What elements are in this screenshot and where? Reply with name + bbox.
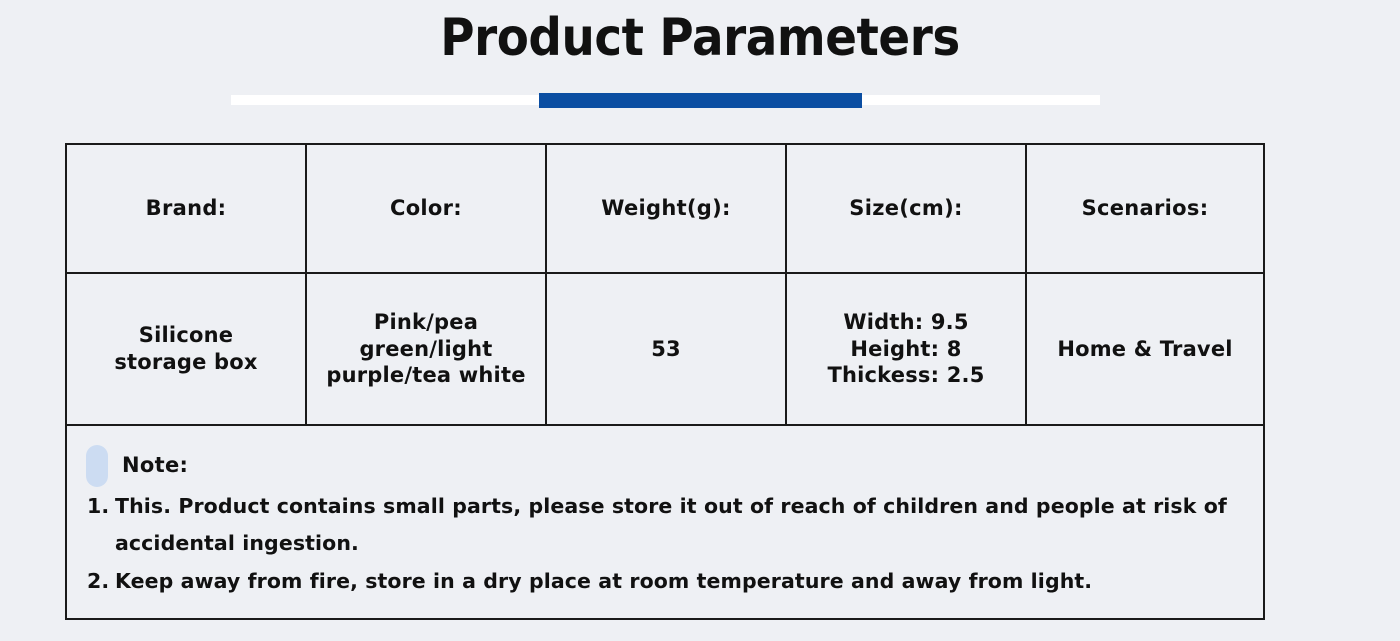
product-parameters-page: Product Parameters Brand: Color: Weight(…: [0, 0, 1400, 641]
list-item: 2. Keep away from fire, store in a dry p…: [81, 563, 1245, 600]
brand-value: Siliconestorage box: [114, 322, 257, 376]
parameters-table: Brand: Color: Weight(g): Size(cm): Scena…: [65, 143, 1265, 620]
table-cell-size: Width: 9.5Height: 8Thickess: 2.5: [787, 274, 1027, 424]
color-value: Pink/peagreen/lightpurple/tea white: [326, 309, 525, 390]
table-header-brand: Brand:: [67, 145, 307, 272]
page-title: Product Parameters: [70, 8, 1330, 68]
table-header-row: Brand: Color: Weight(g): Size(cm): Scena…: [67, 145, 1263, 274]
weight-value: 53: [651, 336, 681, 363]
note-label: Note:: [122, 453, 188, 477]
list-item: 1. This. Product contains small parts, p…: [81, 488, 1245, 563]
table-cell-color: Pink/peagreen/lightpurple/tea white: [307, 274, 547, 424]
table-header-scenarios: Scenarios:: [1027, 145, 1263, 272]
note-item-text: Keep away from fire, store in a dry plac…: [115, 563, 1245, 600]
note-item-number: 1.: [81, 488, 109, 525]
table-header-weight: Weight(g):: [547, 145, 787, 272]
note-heading: Note:: [81, 448, 1245, 482]
table-cell-brand: Siliconestorage box: [67, 274, 307, 424]
scenarios-value: Home & Travel: [1057, 336, 1232, 363]
table-header-color: Color:: [307, 145, 547, 272]
table-header-size: Size(cm):: [787, 145, 1027, 272]
divider-accent-bar: [539, 93, 862, 108]
note-marker-icon: [86, 445, 108, 487]
title-divider: [0, 93, 1400, 117]
table-cell-scenarios: Home & Travel: [1027, 274, 1263, 424]
table-cell-weight: 53: [547, 274, 787, 424]
note-list: 1. This. Product contains small parts, p…: [81, 488, 1245, 600]
table-row: Siliconestorage box Pink/peagreen/lightp…: [67, 274, 1263, 426]
note-item-number: 2.: [81, 563, 109, 600]
note-section: Note: 1. This. Product contains small pa…: [67, 426, 1263, 618]
size-value: Width: 9.5Height: 8Thickess: 2.5: [827, 309, 984, 390]
note-item-text: This. Product contains small parts, plea…: [115, 488, 1245, 563]
